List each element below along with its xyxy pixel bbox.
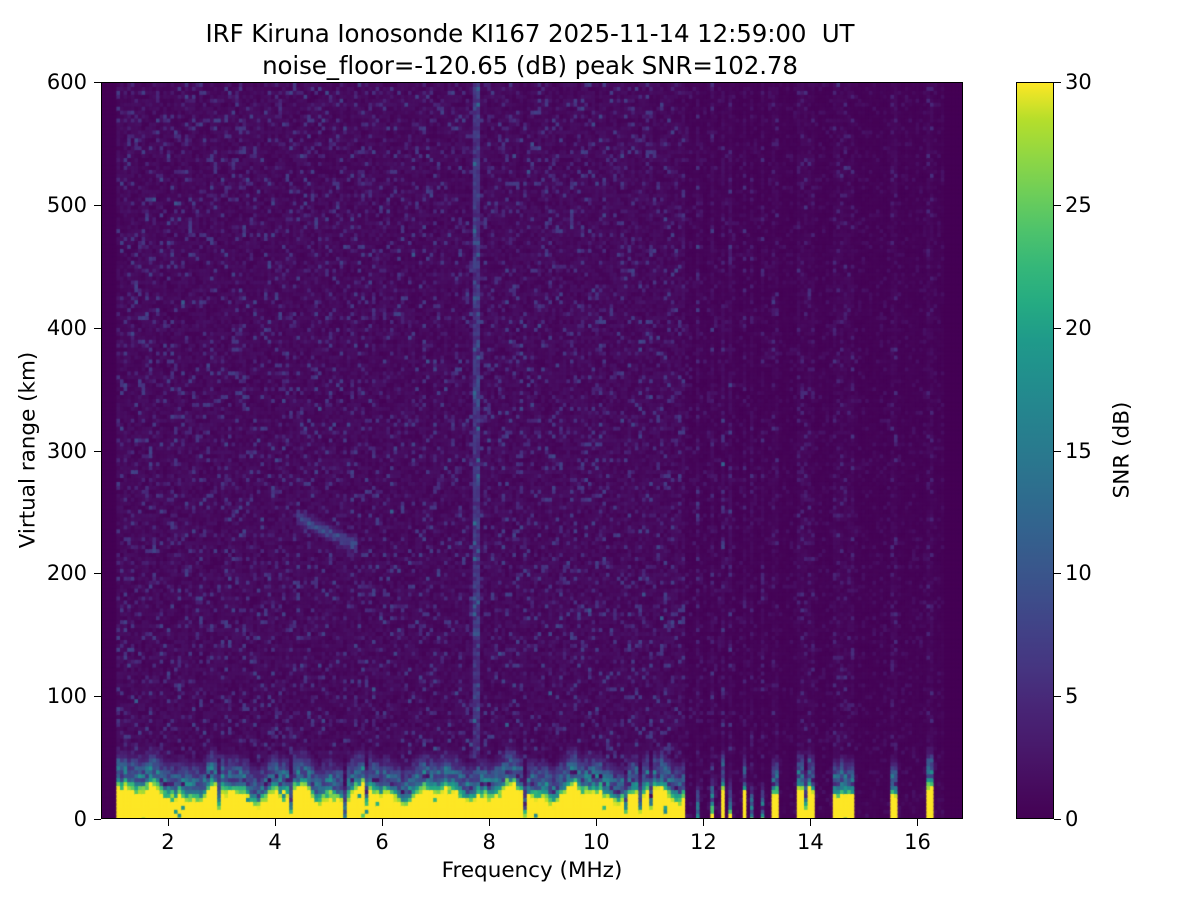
x-tick-label: 8 bbox=[482, 830, 495, 854]
x-tick-label: 6 bbox=[375, 830, 388, 854]
colorbar-tick-label: 30 bbox=[1065, 70, 1092, 94]
colorbar-tick-label: 10 bbox=[1065, 561, 1092, 585]
x-tick-label: 2 bbox=[161, 830, 174, 854]
x-tick-mark bbox=[275, 819, 276, 826]
y-tick-label: 200 bbox=[47, 561, 87, 585]
y-tick-label: 0 bbox=[74, 807, 87, 831]
y-tick-mark bbox=[94, 205, 101, 206]
x-tick-label: 12 bbox=[690, 830, 717, 854]
y-tick-mark bbox=[94, 328, 101, 329]
colorbar-tick-mark bbox=[1054, 328, 1061, 329]
y-tick-label: 400 bbox=[47, 316, 87, 340]
x-tick-label: 4 bbox=[268, 830, 281, 854]
ionogram-figure: IRF Kiruna Ionosonde KI167 2025-11-14 12… bbox=[0, 0, 1200, 900]
y-tick-mark bbox=[94, 696, 101, 697]
colorbar-tick-label: 0 bbox=[1065, 807, 1078, 831]
y-axis-label: Virtual range (km) bbox=[16, 352, 41, 549]
y-tick-label: 500 bbox=[47, 193, 87, 217]
colorbar-gradient bbox=[1017, 83, 1053, 818]
colorbar-tick-mark bbox=[1054, 819, 1061, 820]
colorbar-tick-label: 15 bbox=[1065, 439, 1092, 463]
colorbar-tick-mark bbox=[1054, 451, 1061, 452]
title-line-2: noise_floor=-120.65 (dB) peak SNR=102.78 bbox=[0, 50, 1060, 82]
x-tick-mark bbox=[917, 819, 918, 826]
y-tick-mark bbox=[94, 819, 101, 820]
ionogram-heatmap[interactable] bbox=[102, 83, 963, 819]
colorbar-label: SNR (dB) bbox=[1110, 402, 1135, 499]
heatmap-axes[interactable] bbox=[101, 82, 963, 819]
colorbar-tick-mark bbox=[1054, 205, 1061, 206]
colorbar-tick-mark bbox=[1054, 82, 1061, 83]
y-tick-label: 300 bbox=[47, 439, 87, 463]
colorbar-tick-label: 5 bbox=[1065, 684, 1078, 708]
x-tick-mark bbox=[703, 819, 704, 826]
y-tick-label: 100 bbox=[47, 684, 87, 708]
x-tick-label: 16 bbox=[904, 830, 931, 854]
y-tick-mark bbox=[94, 451, 101, 452]
x-tick-mark bbox=[382, 819, 383, 826]
y-tick-mark bbox=[94, 573, 101, 574]
y-tick-mark bbox=[94, 82, 101, 83]
figure-title: IRF Kiruna Ionosonde KI167 2025-11-14 12… bbox=[0, 18, 1060, 82]
colorbar-tick-mark bbox=[1054, 573, 1061, 574]
colorbar-tick-label: 20 bbox=[1065, 316, 1092, 340]
title-line-1: IRF Kiruna Ionosonde KI167 2025-11-14 12… bbox=[0, 18, 1060, 50]
x-axis-label: Frequency (MHz) bbox=[101, 858, 963, 883]
x-tick-mark bbox=[596, 819, 597, 826]
x-tick-mark bbox=[168, 819, 169, 826]
colorbar-tick-label: 25 bbox=[1065, 193, 1092, 217]
colorbar-tick-mark bbox=[1054, 696, 1061, 697]
x-tick-label: 10 bbox=[583, 830, 610, 854]
colorbar[interactable] bbox=[1016, 82, 1054, 819]
x-tick-label: 14 bbox=[797, 830, 824, 854]
x-tick-mark bbox=[489, 819, 490, 826]
x-tick-mark bbox=[810, 819, 811, 826]
y-tick-label: 600 bbox=[47, 70, 87, 94]
